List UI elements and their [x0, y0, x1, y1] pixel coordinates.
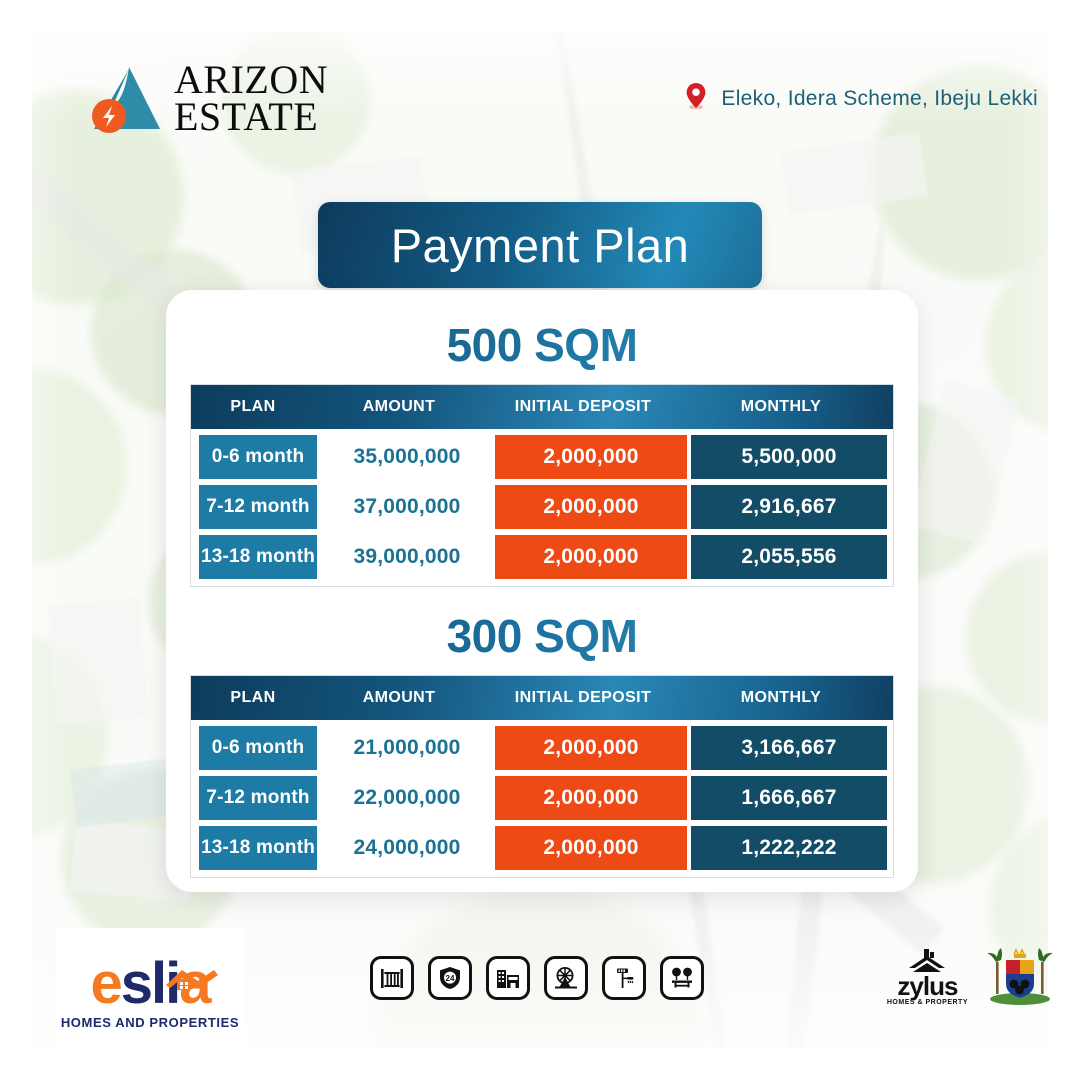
cell-initial-deposit: 2,000,000 — [495, 435, 687, 479]
cell-amount: 21,000,000 — [323, 726, 491, 770]
brand-name-line2: ESTATE — [174, 99, 328, 136]
cell-initial-deposit: 2,000,000 — [495, 726, 687, 770]
arizon-mountain-icon — [88, 63, 166, 135]
footer: e sli a HOMES AND PROPERTIES — [0, 920, 1080, 1080]
table-header-row: PLAN AMOUNT INITIAL DEPOSIT MONTHLY — [191, 385, 893, 429]
gate-icon — [370, 956, 414, 1000]
cell-amount: 39,000,000 — [323, 535, 491, 579]
cell-monthly: 2,055,556 — [691, 535, 887, 579]
payment-plan-flyer: ARIZON ESTATE Eleko, Idera Scheme, Ibeju… — [0, 0, 1080, 1080]
street-light-icon — [602, 956, 646, 1000]
table-row: 0-6 month 35,000,000 2,000,000 5,500,000 — [191, 435, 893, 479]
table-row: 0-6 month 21,000,000 2,000,000 3,166,667 — [191, 726, 893, 770]
payment-plan-card: 500 SQM PLAN AMOUNT INITIAL DEPOSIT MONT… — [166, 290, 918, 892]
cell-initial-deposit: 2,000,000 — [495, 485, 687, 529]
ferris-wheel-icon — [544, 956, 588, 1000]
section-title-300sqm: 300 SQM — [190, 609, 894, 663]
payment-plan-title: Payment Plan — [391, 218, 690, 273]
brand-wordmark: ARIZON ESTATE — [174, 62, 328, 136]
column-header-monthly: MONTHLY — [683, 385, 879, 429]
cell-plan: 13-18 month — [199, 535, 317, 579]
cell-amount: 37,000,000 — [323, 485, 491, 529]
cell-initial-deposit: 2,000,000 — [495, 826, 687, 870]
lagos-state-seal-icon — [984, 944, 1056, 1011]
cell-monthly: 1,222,222 — [691, 826, 887, 870]
partner-logos: zylus HOMES & PROPERTY — [887, 944, 1056, 1011]
cell-monthly: 5,500,000 — [691, 435, 887, 479]
security-24-shield-icon: 24 — [428, 956, 472, 1000]
header: ARIZON ESTATE Eleko, Idera Scheme, Ibeju… — [0, 56, 1080, 146]
cell-monthly: 2,916,667 — [691, 485, 887, 529]
cell-amount: 35,000,000 — [323, 435, 491, 479]
table-row: 13-18 month 24,000,000 2,000,000 1,222,2… — [191, 826, 893, 870]
location-badge: Eleko, Idera Scheme, Ibeju Lekki — [685, 82, 1038, 115]
column-header-amount: AMOUNT — [315, 385, 483, 429]
cell-amount: 22,000,000 — [323, 776, 491, 820]
cell-plan: 7-12 month — [199, 485, 317, 529]
cell-plan: 13-18 month — [199, 826, 317, 870]
house-roof-icon — [164, 949, 220, 1007]
cell-monthly: 1,666,667 — [691, 776, 887, 820]
cell-plan: 0-6 month — [199, 726, 317, 770]
cell-plan: 7-12 month — [199, 776, 317, 820]
column-header-plan: PLAN — [191, 676, 315, 720]
green-area-icon — [660, 956, 704, 1000]
location-text: Eleko, Idera Scheme, Ibeju Lekki — [721, 87, 1038, 111]
eslia-tagline: HOMES AND PROPERTIES — [61, 1015, 239, 1030]
table-row: 13-18 month 39,000,000 2,000,000 2,055,5… — [191, 535, 893, 579]
zylus-wordmark: zylus — [897, 975, 957, 998]
column-header-initial-deposit: INITIAL DEPOSIT — [483, 385, 683, 429]
brand-logo: ARIZON ESTATE — [88, 62, 328, 136]
column-header-amount: AMOUNT — [315, 676, 483, 720]
svg-text:24: 24 — [446, 974, 455, 983]
eslia-logo: e sli a HOMES AND PROPERTIES — [56, 928, 244, 1056]
map-pin-icon — [685, 82, 707, 115]
cell-monthly: 3,166,667 — [691, 726, 887, 770]
payment-plan-title-banner: Payment Plan — [318, 202, 762, 288]
column-header-initial-deposit: INITIAL DEPOSIT — [483, 676, 683, 720]
cell-initial-deposit: 2,000,000 — [495, 776, 687, 820]
column-header-monthly: MONTHLY — [683, 676, 879, 720]
eslia-word-part1: e — [90, 955, 120, 1013]
payment-table-500sqm: PLAN AMOUNT INITIAL DEPOSIT MONTHLY 0-6 … — [190, 384, 894, 587]
cell-initial-deposit: 2,000,000 — [495, 535, 687, 579]
amenities-list: 24 — [370, 956, 704, 1000]
eslia-wordmark: e sli a — [90, 955, 209, 1013]
column-header-plan: PLAN — [191, 385, 315, 429]
section-title-500sqm: 500 SQM — [190, 318, 894, 372]
table-row: 7-12 month 37,000,000 2,000,000 2,916,66… — [191, 485, 893, 529]
table-header-row: PLAN AMOUNT INITIAL DEPOSIT MONTHLY — [191, 676, 893, 720]
payment-table-300sqm: PLAN AMOUNT INITIAL DEPOSIT MONTHLY 0-6 … — [190, 675, 894, 878]
zylus-logo: zylus HOMES & PROPERTY — [887, 949, 968, 1005]
cell-plan: 0-6 month — [199, 435, 317, 479]
cell-amount: 24,000,000 — [323, 826, 491, 870]
shopping-mall-icon — [486, 956, 530, 1000]
table-row: 7-12 month 22,000,000 2,000,000 1,666,66… — [191, 776, 893, 820]
zylus-subtitle: HOMES & PROPERTY — [887, 999, 968, 1006]
